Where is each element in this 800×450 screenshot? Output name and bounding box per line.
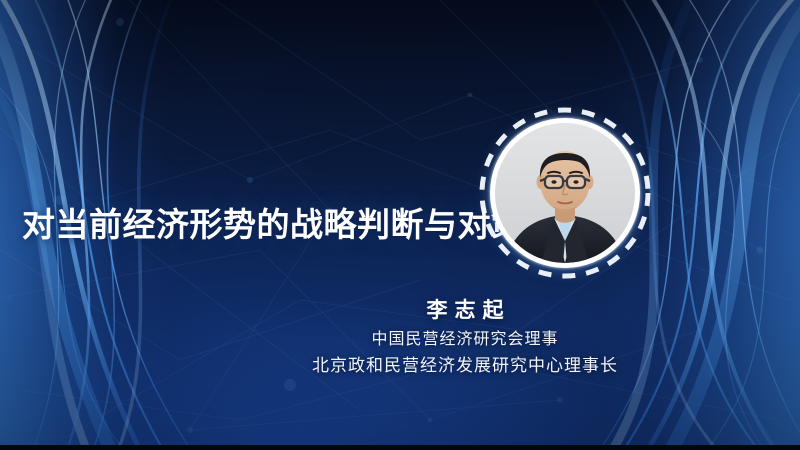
bottom-bar — [0, 445, 800, 450]
presentation-slide: 对当前经济形势的战略判断与对策思考 — [0, 0, 800, 450]
speaker-name: 李志起 — [297, 299, 511, 322]
speaker-name-row: 李志起 — [0, 294, 800, 324]
speaker-credential-2: 北京政和民营经济发展研究中心理事长 — [190, 351, 740, 376]
speaker-portrait — [475, 103, 655, 283]
portrait-photo — [495, 123, 635, 263]
speaker-credential-1: 中国民营经济研究会理事 — [190, 325, 740, 349]
